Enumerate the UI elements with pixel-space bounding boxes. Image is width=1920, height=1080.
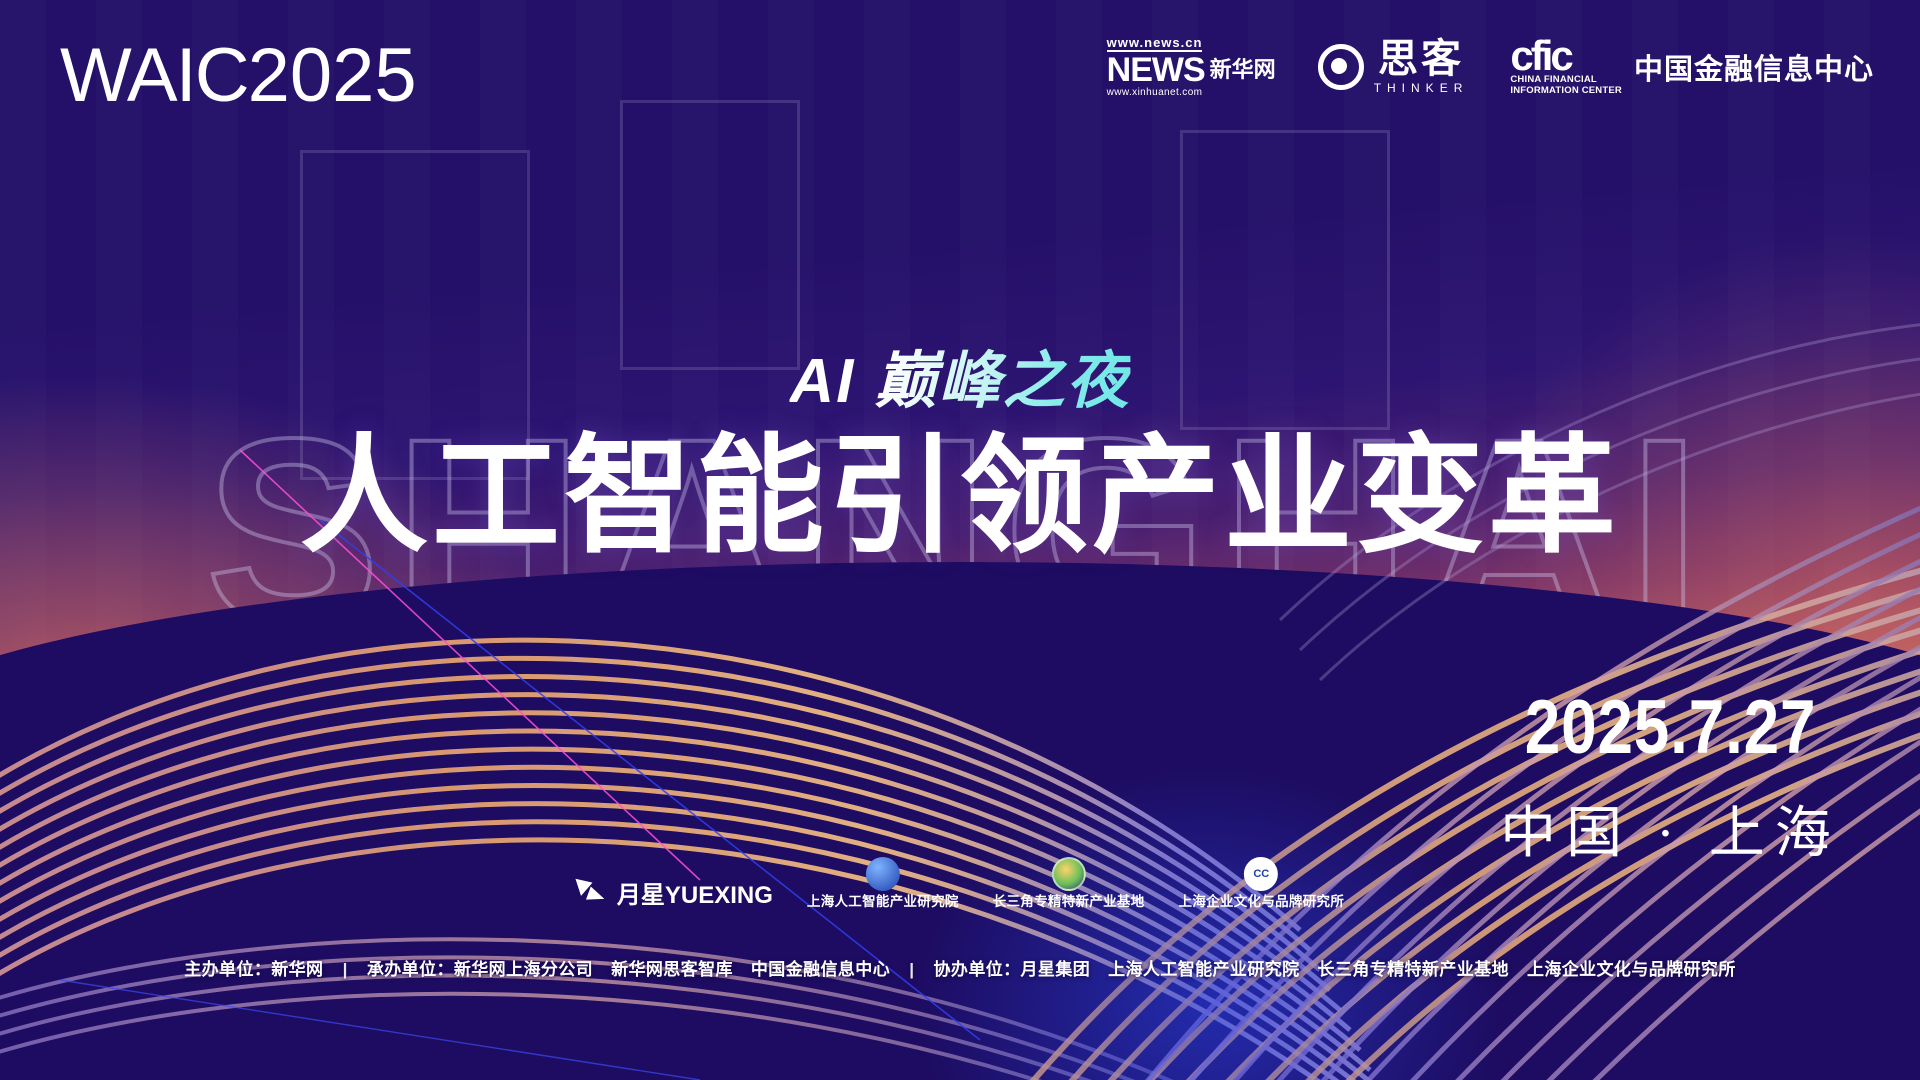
credits-host: 新华网 <box>271 960 323 979</box>
sponsor-logo-row: 月星YUEXING 上海人工智能产业研究院 长三角专精特新产业基地 CC 上海企… <box>576 857 1344 909</box>
cfic-logo: cfic CHINA FINANCIAL INFORMATION CENTER … <box>1510 37 1874 97</box>
event-subtitle: AI 巅峰之夜 <box>789 330 1130 420</box>
color-globe-icon <box>1052 857 1086 891</box>
credits-organizer-3: 中国金融信息中心 <box>751 960 890 979</box>
thinker-logo: 思客 THINKER <box>1318 39 1469 95</box>
event-city: 中国 · 上海 <box>1497 788 1844 869</box>
xinhuanet-logo: www.news.cn NEWS 新华网 www.xinhuanet.com <box>1107 36 1276 98</box>
sponsor-logo-scbri: CC 上海企业文化与品牌研究所 <box>1179 857 1345 909</box>
waic-logo-year: 2025 <box>248 33 417 118</box>
xinhuanet-url-bottom: www.xinhuanet.com <box>1107 88 1203 98</box>
ring-seal-icon: CC <box>1244 857 1278 891</box>
xinhuanet-brand-en: NEWS <box>1107 54 1205 86</box>
credits-coorganizer-label: 协办单位： <box>934 960 1021 979</box>
thinker-brand-en: THINKER <box>1374 81 1469 95</box>
credits-organizer-1: 新华网上海分公司 <box>454 960 593 979</box>
credits-line: 主办单位：新华网 | 承办单位：新华网上海分公司新华网思客智库中国金融信息中心 … <box>184 955 1736 980</box>
thinker-swirl-icon <box>1318 44 1364 90</box>
sponsor-label-scbri: 上海企业文化与品牌研究所 <box>1179 895 1345 909</box>
credits-coorganizer-1: 月星集团 <box>1021 960 1091 979</box>
credits-coorganizer-2: 上海人工智能产业研究院 <box>1108 960 1299 979</box>
waic-logo-prefix: WAIC <box>60 33 248 118</box>
sponsor-label-saiir: 上海人工智能产业研究院 <box>807 895 959 909</box>
thinker-brand-cn: 思客 <box>1378 39 1464 79</box>
blue-globe-icon <box>866 857 900 891</box>
event-headline: 人工智能引领产业变革 <box>300 425 1620 568</box>
event-date: 2025.7.27 <box>1525 690 1817 766</box>
credits-organizer-label: 承办单位： <box>367 960 454 979</box>
credits-host-label: 主办单位： <box>184 960 271 979</box>
sponsor-logo-yuexing: 月星YUEXING <box>576 876 773 908</box>
credits-separator-2: | <box>895 960 928 980</box>
header-logo-row: www.news.cn NEWS 新华网 www.xinhuanet.com 思… <box>1107 36 1874 98</box>
sponsor-logo-yrd-base: 长三角专精特新产业基地 <box>993 857 1145 909</box>
credits-separator-1: | <box>329 960 362 980</box>
xinhuanet-url-top: www.news.cn <box>1107 36 1203 52</box>
date-location-block: 2025.7.27 中国 · 上海 <box>1497 690 1844 869</box>
sponsor-logo-saiir: 上海人工智能产业研究院 <box>807 857 959 909</box>
poster-canvas: SHANGHAI <box>0 0 1920 1080</box>
cfic-en-line2: INFORMATION CENTER <box>1510 86 1622 97</box>
xinhuanet-brand-cn: 新华网 <box>1210 59 1276 81</box>
credits-coorganizer-4: 上海企业文化与品牌研究所 <box>1527 960 1736 979</box>
cfic-brand-cn: 中国金融信息中心 <box>1634 46 1874 88</box>
sponsor-label-yuexing: 月星YUEXING <box>617 884 773 908</box>
sponsor-label-yrd-base: 长三角专精特新产业基地 <box>993 895 1145 909</box>
cfic-mark-icon: cfic <box>1510 37 1622 75</box>
credits-coorganizer-3: 长三角专精特新产业基地 <box>1318 960 1509 979</box>
waic-logo: WAIC2025 <box>60 38 417 114</box>
credits-organizer-2: 新华网思客智库 <box>611 960 733 979</box>
yuexing-bird-icon <box>576 876 610 908</box>
